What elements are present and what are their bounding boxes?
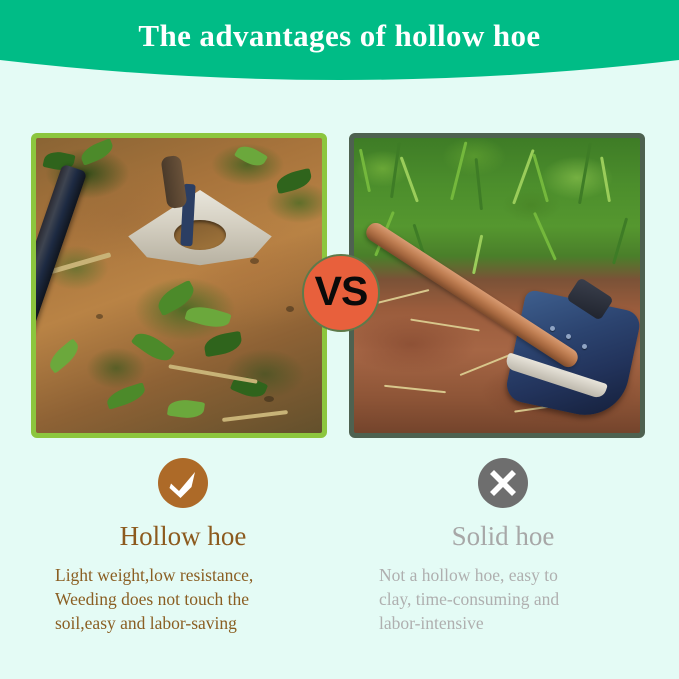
hollow-hoe-photo [36, 138, 322, 433]
soil-clod [264, 396, 274, 402]
hollow-hoe-heading: Hollow hoe [33, 520, 333, 552]
versus-badge: VS [302, 254, 380, 332]
header-banner: The advantages of hollow hoe [0, 0, 679, 92]
soil-clod [96, 314, 103, 319]
soil-clod [286, 306, 294, 312]
soil-clod [250, 258, 259, 264]
blade-rivet [550, 326, 555, 331]
check-icon [158, 458, 208, 508]
page-title: The advantages of hollow hoe [0, 18, 679, 54]
hollow-hoe-column: Hollow hoe Light weight,low resistance, … [33, 458, 333, 635]
hollow-hoe-description: Light weight,low resistance, Weeding doe… [33, 563, 333, 635]
solid-hoe-description: Not a hollow hoe, easy to clay, time-con… [353, 563, 653, 635]
solid-hoe-photo-frame [349, 133, 645, 438]
check-mark-glyph [158, 458, 208, 508]
close-icon [478, 458, 528, 508]
blade-rivet [582, 344, 587, 349]
versus-label: VS [304, 256, 378, 330]
solid-hoe-column: Solid hoe Not a hollow hoe, easy to clay… [353, 458, 653, 635]
infographic-page: The advantages of hollow hoe [0, 0, 679, 679]
solid-hoe-photo [354, 138, 640, 433]
hollow-hoe-photo-frame [31, 133, 327, 438]
blade-rivet [566, 334, 571, 339]
cross-mark-glyph [478, 458, 528, 508]
solid-hoe-heading: Solid hoe [353, 520, 653, 552]
